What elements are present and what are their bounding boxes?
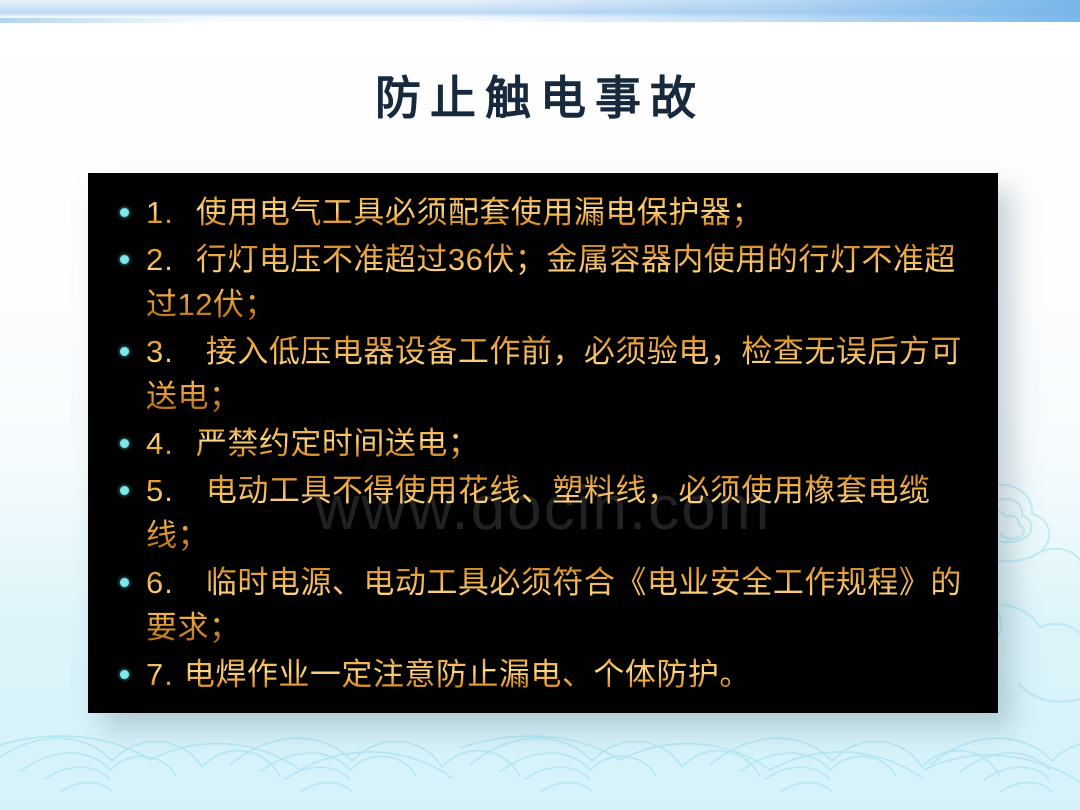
top-decoration-streak [0,18,220,23]
list-item-number: 6. [146,565,174,600]
list-item: 5.电动工具不得使用花线、塑料线，必须使用橡套电缆线； [102,468,984,558]
list-item-number: 5. [146,473,174,508]
list-item-body: 使用电气工具必须配套使用漏电保护器； [196,195,763,230]
list-item-body: 电动工具不得使用花线、塑料线，必须使用橡套电缆线； [146,473,930,553]
list-item-number: 3. [146,334,174,369]
slide-root: 防止触电事故 www.docin.com 1.使用电气工具必须配套使用漏电保护器… [0,0,1080,810]
list-item: 4.严禁约定时间送电； [102,421,984,466]
list-item: 7.电焊作业一定注意防止漏电、个体防护。 [102,652,984,697]
list-item-body: 接入低压电器设备工作前，必须验电，检查无误后方可送电； [146,334,962,414]
bullet-dot-icon [120,208,129,217]
list-item-text: 7.电焊作业一定注意防止漏电、个体防护。 [146,652,984,697]
list-item-body: 电焊作业一定注意防止漏电、个体防护。 [184,657,751,692]
list-item-number: 7. [146,657,174,692]
bullet-dot-icon [120,255,129,264]
list-item: 1.使用电气工具必须配套使用漏电保护器； [102,190,984,235]
list-item-text: 2.行灯电压不准超过36伏；金属容器内使用的行灯不准超过12伏； [146,237,984,327]
list-item-body: 严禁约定时间送电； [196,426,480,461]
bullet-dot-icon [120,439,129,448]
content-panel: www.docin.com 1.使用电气工具必须配套使用漏电保护器； 2.行灯电… [88,173,998,713]
list-item-text: 5.电动工具不得使用花线、塑料线，必须使用橡套电缆线； [146,468,984,558]
bullet-dot-icon [120,578,129,587]
list-item-body: 临时电源、电动工具必须符合《电业安全工作规程》的要求； [146,565,962,645]
bullet-dot-icon [120,347,129,356]
bullet-cell [102,329,146,356]
list-item-text: 1.使用电气工具必须配套使用漏电保护器； [146,190,984,235]
bullet-dot-icon [120,486,129,495]
list-item: 2.行灯电压不准超过36伏；金属容器内使用的行灯不准超过12伏； [102,237,984,327]
page-title: 防止触电事故 [0,62,1080,128]
bullet-cell [102,237,146,264]
list-item-body: 行灯电压不准超过36伏；金属容器内使用的行灯不准超过12伏； [146,242,956,322]
list-item-text: 3.接入低压电器设备工作前，必须验电，检查无误后方可送电； [146,329,984,419]
bullet-dot-icon [120,670,129,679]
list-item: 3.接入低压电器设备工作前，必须验电，检查无误后方可送电； [102,329,984,419]
list-item-number: 4. [146,426,174,461]
list-item-number: 1. [146,195,174,230]
bullet-cell [102,468,146,495]
list-item-text: 6.临时电源、电动工具必须符合《电业安全工作规程》的要求； [146,560,984,650]
list-item-number: 2. [146,242,174,277]
bullet-cell [102,190,146,217]
safety-rules-list: 1.使用电气工具必须配套使用漏电保护器； 2.行灯电压不准超过36伏；金属容器内… [88,173,998,699]
list-item: 6.临时电源、电动工具必须符合《电业安全工作规程》的要求； [102,560,984,650]
bullet-cell [102,560,146,587]
bullet-cell [102,421,146,448]
bullet-cell [102,652,146,679]
list-item-text: 4.严禁约定时间送电； [146,421,984,466]
